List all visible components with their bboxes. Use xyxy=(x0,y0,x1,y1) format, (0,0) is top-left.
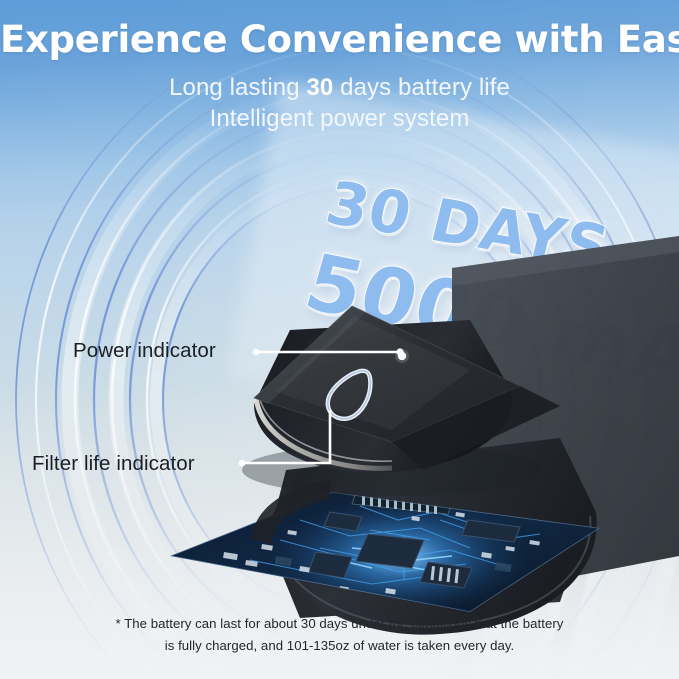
leader-power-indicator xyxy=(253,348,404,355)
callout-filter-life-indicator-label: Filter life indicator xyxy=(32,452,195,476)
product-feature-image: 30 DAYS 5000 mAh xyxy=(0,0,679,679)
callout-filter-life-indicator: Filter life indicator xyxy=(32,452,195,476)
footnote-line-2: is fully charged, and 101-135oz of water… xyxy=(0,635,679,657)
footnote-line-1: * The battery can last for about 30 days… xyxy=(0,613,679,635)
callout-power-indicator-label: Power indicator xyxy=(73,339,216,363)
footnote: * The battery can last for about 30 days… xyxy=(0,613,679,657)
callout-power-indicator: Power indicator xyxy=(73,339,216,363)
leader-filter-indicator xyxy=(239,410,330,466)
